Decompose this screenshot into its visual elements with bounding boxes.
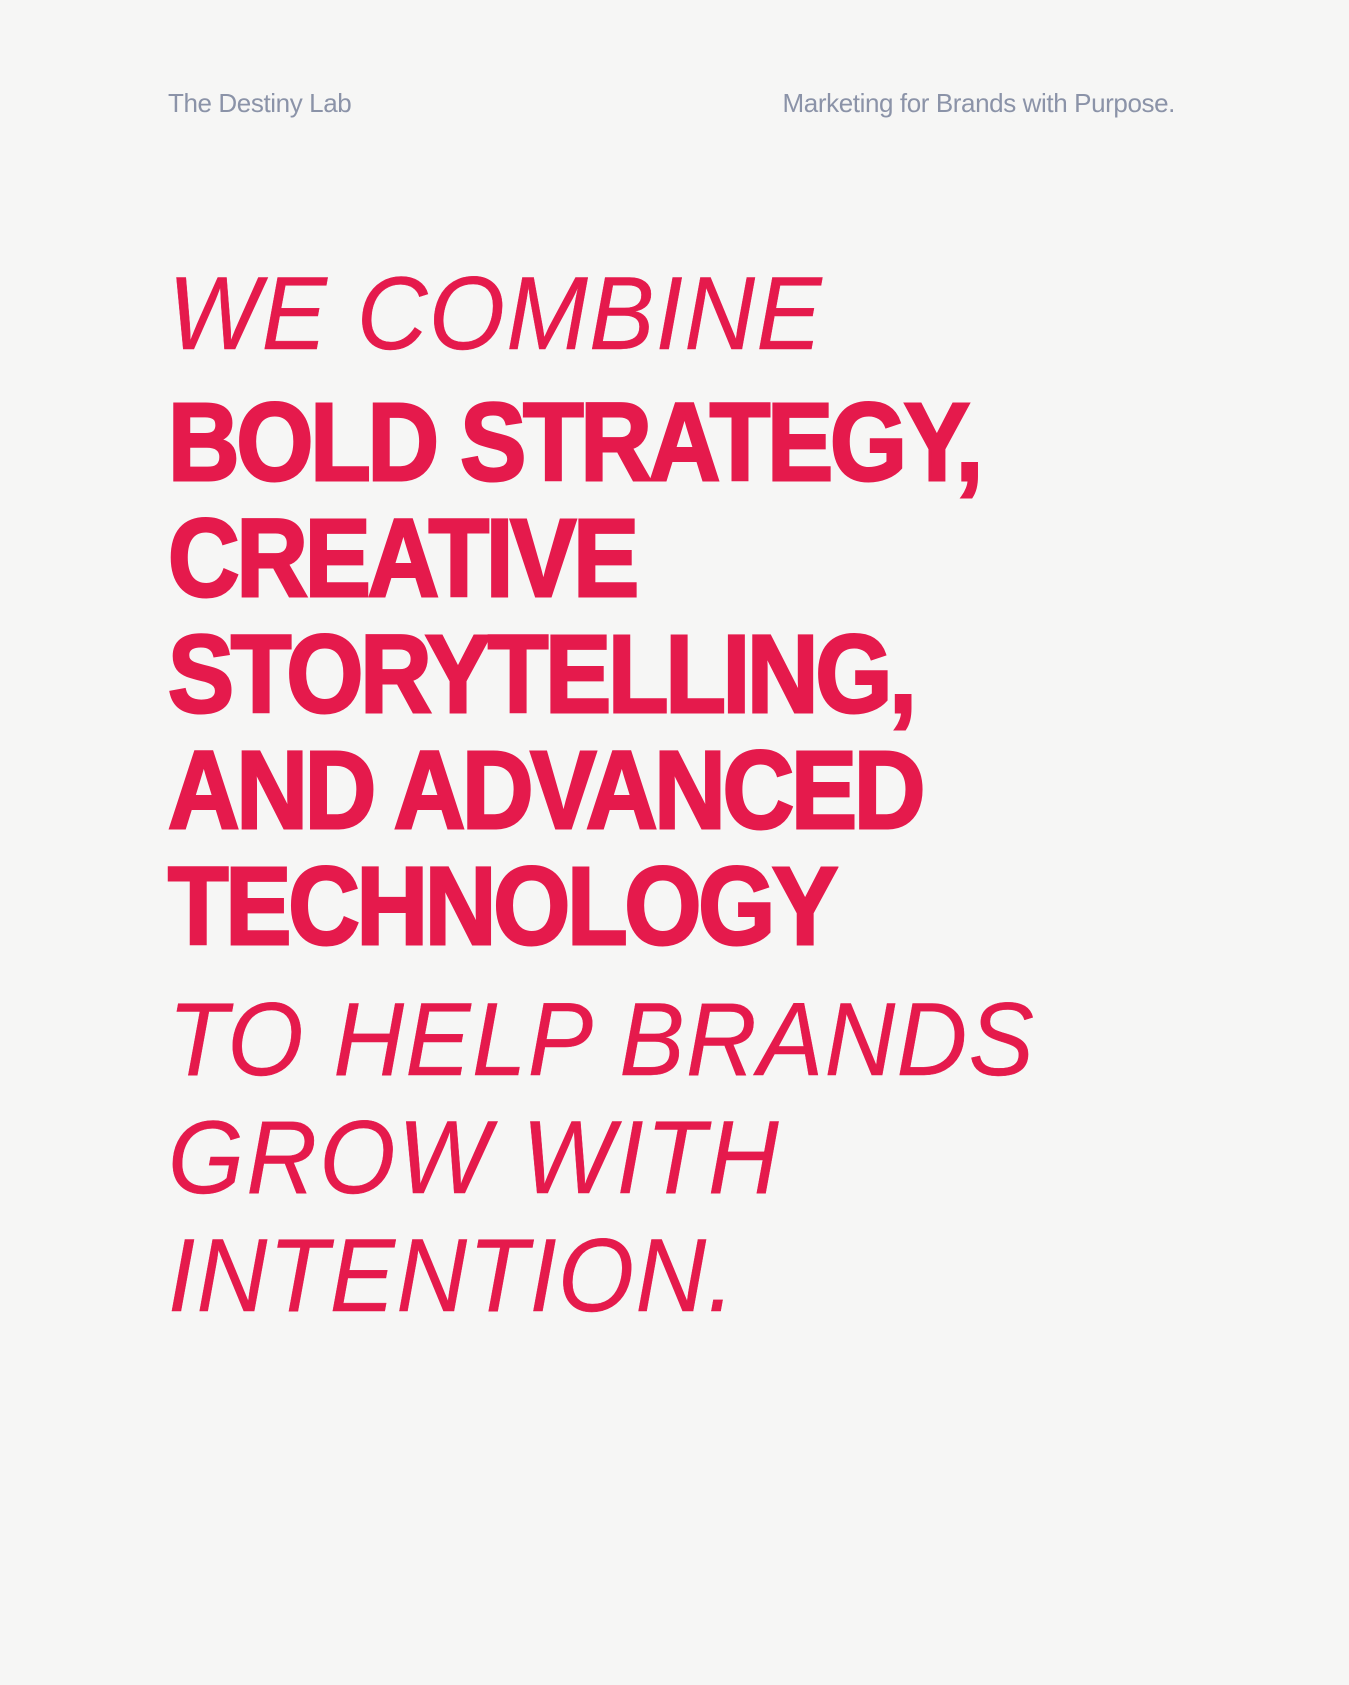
headline-block: WE COMBINE BOLD STRATEGY, CREATIVE STORY…	[168, 262, 1198, 1342]
brand-name: The Destiny Lab	[168, 88, 351, 119]
headline-line-6: TECHNOLOGY	[168, 852, 1095, 962]
brand-tagline: Marketing for Brands with Purpose.	[783, 88, 1175, 119]
headline-line-1: WE COMBINE	[168, 262, 1136, 366]
headline-line-2: BOLD STRATEGY,	[168, 388, 1095, 498]
headline-line-9: INTENTION.	[168, 1224, 1136, 1328]
headline-line-8: GROW WITH	[168, 1106, 1136, 1210]
headline-line-3: CREATIVE	[168, 504, 1095, 614]
headline-line-7: TO HELP BRANDS	[168, 988, 1136, 1092]
headline-line-4: STORYTELLING,	[168, 620, 1095, 730]
page-header: The Destiny Lab Marketing for Brands wit…	[168, 88, 1181, 119]
poster-canvas: The Destiny Lab Marketing for Brands wit…	[0, 0, 1349, 1685]
headline-line-5: AND ADVANCED	[168, 736, 1095, 846]
